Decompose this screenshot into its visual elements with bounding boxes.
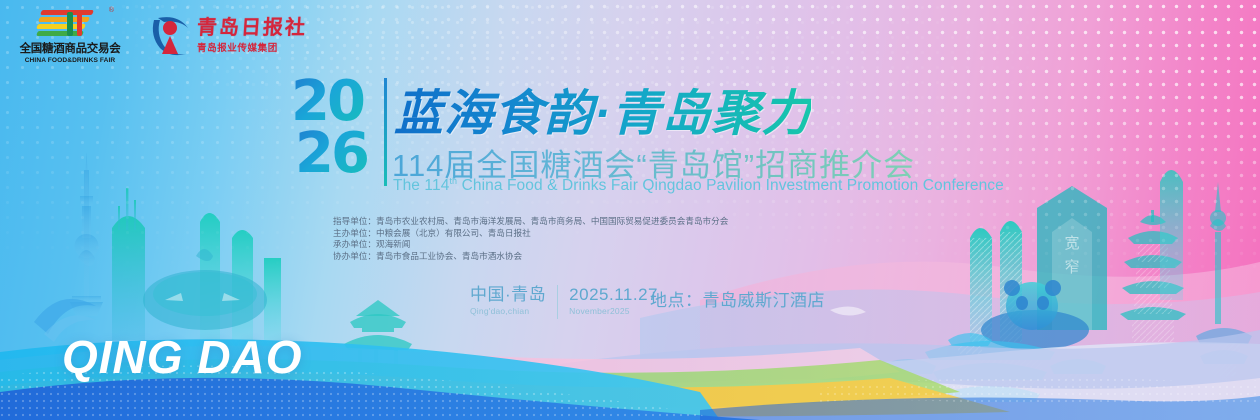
event-datebar: 中国·青岛 Qing'dao,chian 2025.11.27 November…: [470, 285, 658, 319]
cfdf-mark-icon: ®: [37, 8, 103, 38]
qingdao-watermark: QING DAO: [62, 330, 303, 384]
event-date-cn: 2025.11.27: [569, 285, 658, 305]
event-city-en: Qing'dao,chian: [470, 306, 546, 316]
qingdao-daily-mark-icon: [148, 12, 192, 58]
event-city: 中国·青岛 Qing'dao,chian: [470, 285, 546, 316]
year-bottom: 26: [295, 128, 377, 180]
event-date: 2025.11.27 November2025: [569, 285, 658, 316]
organizer-line: 主办单位：中粮会展（北京）有限公司、青岛日报社: [333, 228, 728, 240]
organizer-line: 承办单位：观海新闻: [333, 239, 728, 251]
event-city-cn: 中国·青岛: [470, 285, 546, 305]
registered-mark: ®: [109, 7, 114, 14]
qingdao-daily-cn: 青岛日报社: [196, 17, 307, 37]
cfdf-logo-cn: 全国糖酒商品交易会: [20, 40, 121, 56]
svg-text:窄: 窄: [1064, 258, 1079, 276]
subtitle-en-post: China Food & Drinks Fair Qingdao Pavilio…: [457, 177, 1004, 194]
tower-left-a: [112, 188, 145, 340]
event-venue: 地点：青岛威斯汀酒店: [650, 286, 825, 311]
organizer-line: 协办单位：青岛市食品工业协会、青岛市酒水协会: [333, 251, 728, 263]
tower-right-tall: [1160, 170, 1183, 300]
subtitle-en-ordinal: th: [449, 176, 457, 186]
cfdf-logo-en: CHINA FOOD&DRINKS FAIR: [25, 57, 116, 64]
title-divider: [384, 78, 387, 186]
logo-china-food-drinks-fair: ® 全国糖酒商品交易会 CHINA FOOD&DRINKS FAIR: [16, 8, 124, 64]
left-skyline: [34, 152, 281, 342]
logo-row: ® 全国糖酒商品交易会 CHINA FOOD&DRINKS FAIR 青岛日报社…: [16, 8, 307, 64]
year-top: 20: [291, 76, 377, 128]
organizer-list: 指导单位：青岛市农业农村局、青岛市海洋发展局、青岛市商务局、中国国际贸易促进委员…: [333, 216, 728, 262]
year-2026-logo: 20 26: [291, 76, 377, 188]
page-title: 蓝海食韵·青岛聚力: [394, 74, 811, 145]
event-date-en: November2025: [569, 306, 658, 316]
organizer-line: 指导单位：青岛市农业农村局、青岛市海洋发展局、青岛市商务局、中国国际贸易促进委员…: [333, 216, 728, 228]
promotional-banner: 宽 窄: [0, 0, 1260, 420]
svg-text:宽: 宽: [1064, 234, 1079, 252]
datebar-separator: [557, 285, 558, 319]
tv-tower-icon: [70, 152, 103, 316]
qingdao-daily-sub: 青岛报业传媒集团: [197, 40, 307, 54]
page-subtitle-en: The 114th China Food & Drinks Fair Qingd…: [393, 176, 1004, 195]
logo-qingdao-daily: 青岛日报社 青岛报业传媒集团: [148, 12, 307, 58]
subtitle-en-pre: The 114: [393, 177, 449, 194]
